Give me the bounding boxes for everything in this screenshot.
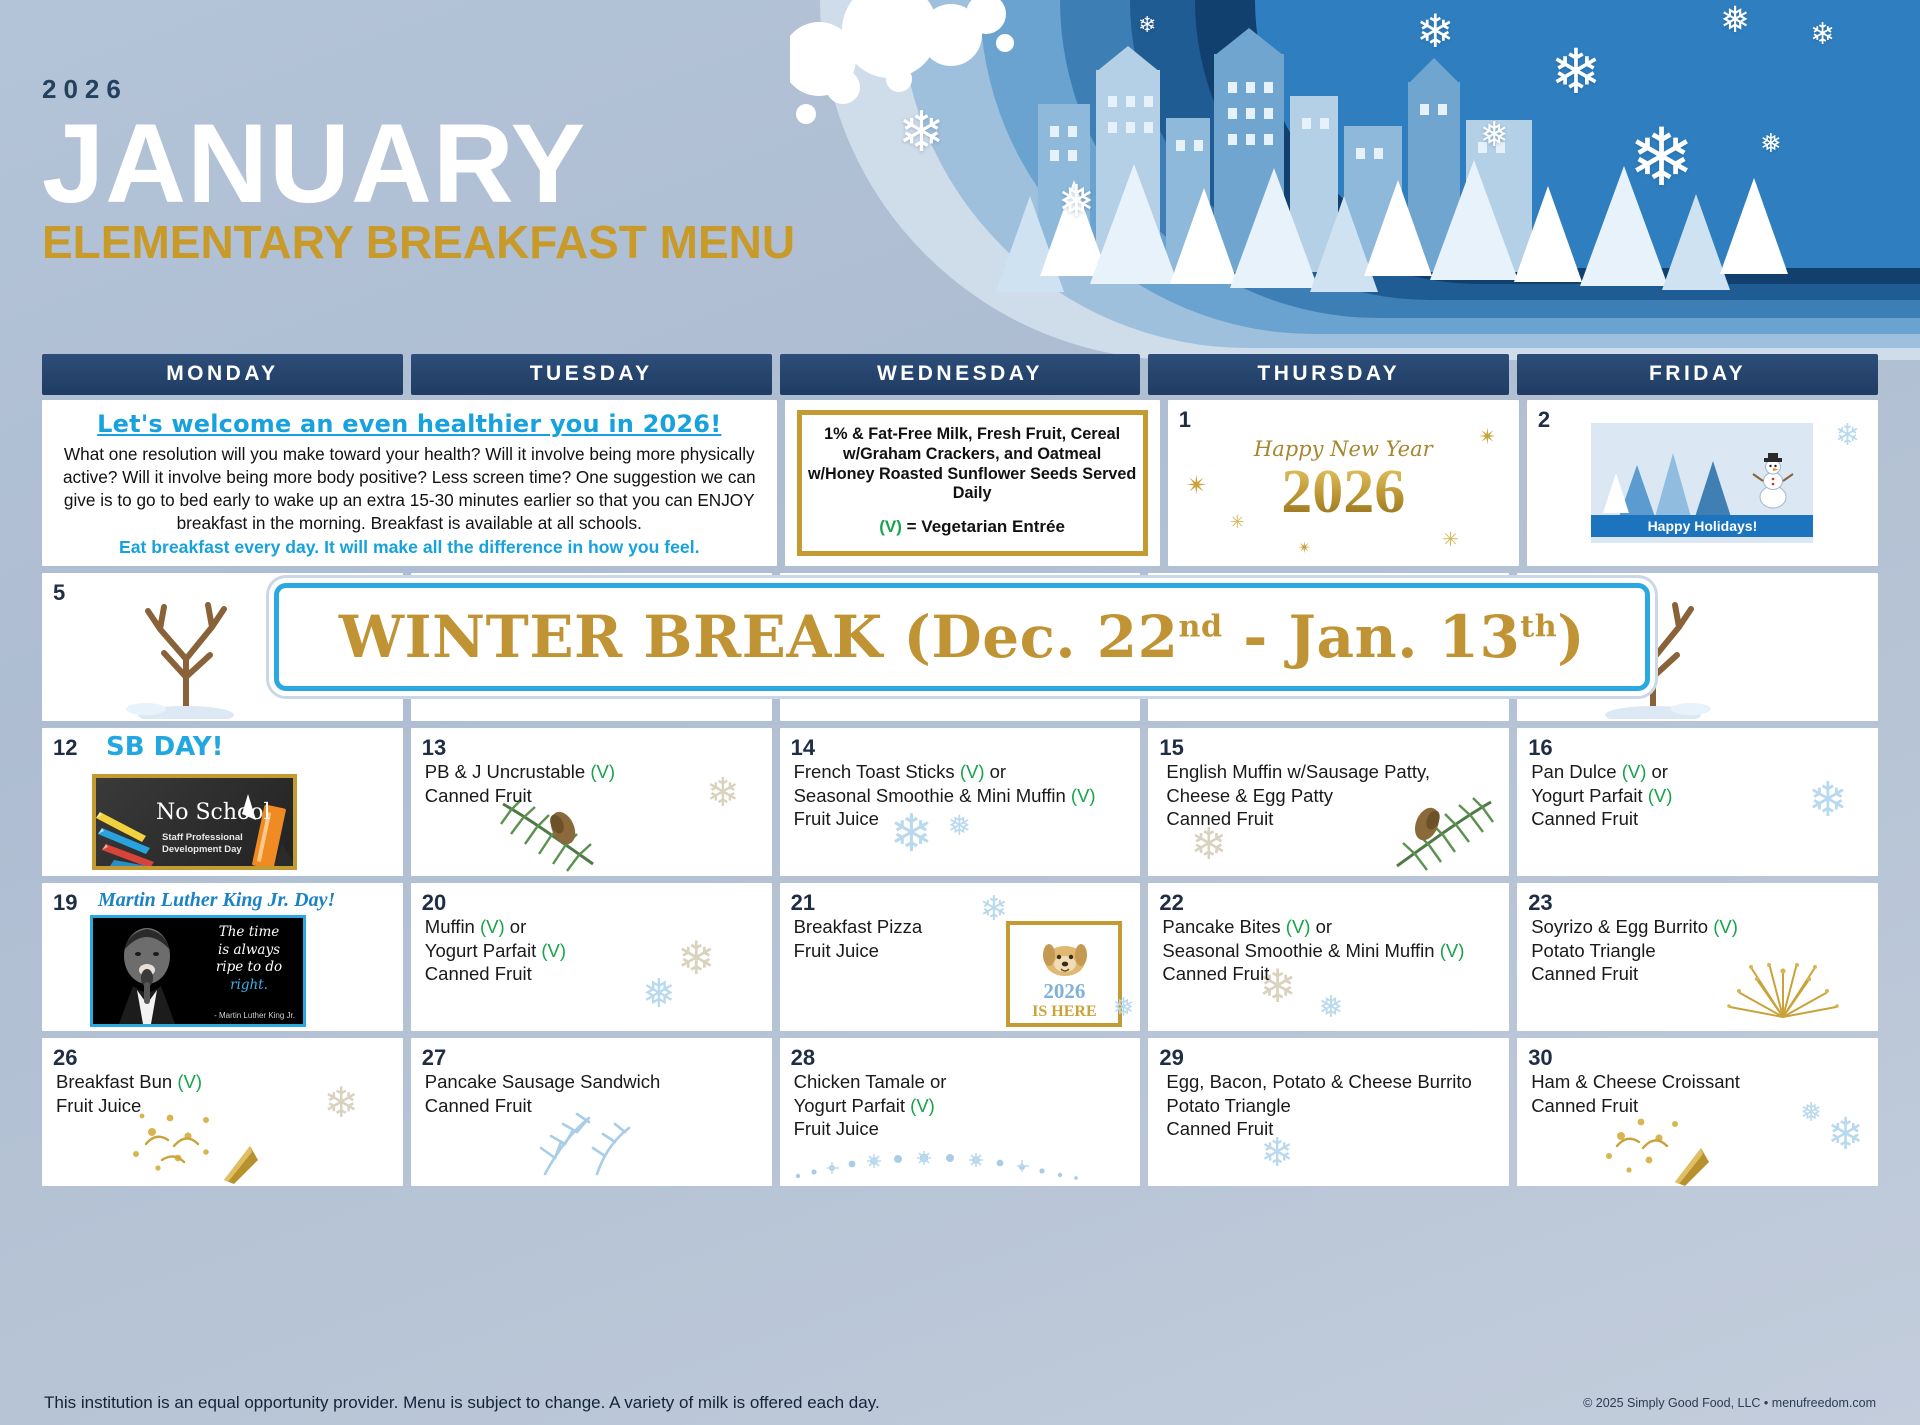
veg-marker: (V) [1648, 785, 1673, 806]
weekday-monday: MONDAY [42, 354, 403, 395]
menu-items: English Muffin w/Sausage Patty, Cheese &… [1148, 728, 1509, 839]
menu-line: Seasonal Smoothie & Mini Muffin (V) [1162, 939, 1499, 963]
menu-items: Soyrizo & Egg Burrito (V) Potato Triangl… [1517, 883, 1878, 994]
menu-items: French Toast Sticks (V) or Seasonal Smoo… [780, 728, 1141, 839]
menu-subtitle: ELEMENTARY BREAKFAST MENU [42, 217, 795, 268]
intro-message-cell: Let's welcome an even healthier you in 2… [42, 400, 777, 566]
menu-line: Canned Fruit [1531, 1094, 1868, 1118]
menu-line: Canned Fruit [425, 962, 762, 986]
menu-line: Canned Fruit [1166, 1117, 1499, 1141]
snowflake-icon: ❅ [1720, 2, 1750, 38]
veg-marker: (V) [590, 761, 615, 782]
snowflake-icon: ❅ [1480, 118, 1509, 152]
vegetarian-key: (V) = Vegetarian Entrée [808, 517, 1137, 537]
menu-line: English Muffin w/Sausage Patty, [1166, 760, 1499, 784]
intro-headline: Let's welcome an even healthier you in 2… [56, 410, 763, 438]
menu-items: Pancake Bites (V) or Seasonal Smoothie &… [1148, 883, 1509, 994]
snowflake-icon: ❅ [1760, 130, 1782, 156]
mlk-quote: The time is always ripe to do right. [203, 924, 295, 994]
menu-line: Canned Fruit [1531, 962, 1868, 986]
month-title: JANUARY [42, 107, 795, 221]
menu-item-text: Pancake Bites [1162, 916, 1285, 937]
winter-break-sup-1: nd [1179, 610, 1223, 645]
weekday-wednesday: WEDNESDAY [780, 354, 1141, 395]
menu-line: Fruit Juice [794, 807, 1131, 831]
menu-item-text: PB & J Uncrustable [425, 761, 591, 782]
menu-items: Chicken Tamale or Yogurt Parfait (V) Fru… [780, 1038, 1141, 1149]
veg-marker: (V) [1713, 916, 1738, 937]
menu-line: Cheese & Egg Patty [1166, 784, 1499, 808]
page-header: ❄ ❅ ❄ ❄ ❅ ❄ ❅ ❄ ❅ ❄ 2026 JANUARY ELEMENT… [0, 0, 1920, 360]
menu-items: Pan Dulce (V) or Yogurt Parfait (V) Cann… [1517, 728, 1878, 839]
mlk-quote-line: The time [203, 924, 295, 942]
winter-break-end: ) [1557, 603, 1585, 671]
happy-new-year-art: Happy New Year 2026 [1193, 437, 1493, 523]
day-number: 2 [1538, 407, 1550, 433]
snowflake-icon: ❄ [898, 104, 945, 160]
menu-items: Egg, Bacon, Potato & Cheese Burrito Pota… [1148, 1038, 1509, 1149]
veg-marker: (V) [177, 1071, 202, 1092]
weekday-thursday: THURSDAY [1148, 354, 1509, 395]
menu-line: PB & J Uncrustable (V) [425, 760, 762, 784]
menu-item-suffix: or [985, 761, 1007, 782]
winter-break-main: WINTER BREAK (Dec. 22 [339, 603, 1179, 671]
calendar-week-2: 5 6 7 8 9 [42, 573, 1878, 721]
day-cell-15[interactable]: 15 English Muffin w/Sausage Patty, Chees… [1148, 728, 1509, 876]
2026-card-year: 2026 [1010, 979, 1118, 1004]
snowflake-icon: ❄ [1810, 20, 1835, 50]
menu-line: Muffin (V) or [425, 915, 762, 939]
happy-holidays-label: Happy Holidays! [1591, 515, 1813, 537]
menu-item-text: Pan Dulce [1531, 761, 1622, 782]
menu-line: Yogurt Parfait (V) [794, 1094, 1131, 1118]
veg-marker: (V) [910, 1095, 935, 1116]
daily-offerings-box: 1% & Fat-Free Milk, Fresh Fruit, Cereal … [797, 410, 1148, 556]
veg-marker: (V) [541, 940, 566, 961]
menu-item-suffix: or [1310, 916, 1332, 937]
menu-line: Fruit Juice [794, 1117, 1131, 1141]
snowman-icon [1751, 453, 1795, 509]
menu-line: Breakfast Bun (V) [56, 1070, 393, 1094]
weekday-friday: FRIDAY [1517, 354, 1878, 395]
day-number: 19 [53, 890, 77, 916]
menu-line: Breakfast Pizza [794, 915, 1131, 939]
veg-marker: (V) [960, 761, 985, 782]
day-cell-14[interactable]: 14 French Toast Sticks (V) or Seasonal S… [780, 728, 1141, 876]
day-cell-26[interactable]: 26 Breakfast Bun (V) Fruit Juice ❄ [42, 1038, 403, 1186]
menu-item-text: Seasonal Smoothie & Mini Muffin [794, 785, 1071, 806]
no-school-card: No School Staff Professional Development… [92, 774, 297, 870]
happy-holidays-card: Happy Holidays! [1591, 423, 1813, 543]
menu-line: Egg, Bacon, Potato & Cheese Burrito [1166, 1070, 1499, 1094]
day-cell-12[interactable]: 12 SB DAY! [42, 728, 403, 876]
weekday-header-row: MONDAY TUESDAY WEDNESDAY THURSDAY FRIDAY [0, 354, 1920, 395]
menu-line: Fruit Juice [56, 1094, 393, 1118]
weekday-tuesday: TUESDAY [411, 354, 772, 395]
page-footer: This institution is an equal opportunity… [0, 1381, 1920, 1425]
winter-hero-artwork: ❄ ❅ ❄ ❄ ❅ ❄ ❅ ❄ ❅ ❄ [790, 0, 1920, 360]
menu-item-text: Breakfast Bun [56, 1071, 177, 1092]
snowflake-icon: ❅ [1058, 180, 1095, 224]
daily-offerings-cell: 1% & Fat-Free Milk, Fresh Fruit, Cereal … [785, 400, 1160, 566]
menu-line: Canned Fruit [425, 1094, 762, 1118]
bare-tree-icon [112, 589, 262, 719]
mlk-quote-line: right. [203, 977, 295, 995]
day-cell-13[interactable]: 13 PB & J Uncrustable (V) Canned Fruit ❄ [411, 728, 772, 876]
day-number: 5 [53, 580, 65, 606]
no-school-title: No School [156, 800, 271, 825]
new-year-number: 2026 [1193, 461, 1493, 523]
menu-line: Potato Triangle [1166, 1094, 1499, 1118]
day-cell-28[interactable]: 28 Chicken Tamale or Yogurt Parfait (V) … [780, 1038, 1141, 1186]
calendar-grid: Let's welcome an even healthier you in 2… [0, 395, 1920, 1186]
menu-item-text: Soyrizo & Egg Burrito [1531, 916, 1713, 937]
winter-break-text: WINTER BREAK (Dec. 22nd - Jan. 13th) [339, 603, 1585, 671]
day-cell-2[interactable]: 2 [1527, 400, 1878, 566]
snowflake-border-icon [790, 1150, 1090, 1184]
menu-item-suffix: or [1646, 761, 1668, 782]
footer-disclaimer: This institution is an equal opportunity… [44, 1393, 880, 1413]
veg-marker: (V) [1286, 916, 1311, 937]
day-cell-20[interactable]: 20 Muffin (V) or Yogurt Parfait (V) Cann… [411, 883, 772, 1031]
menu-item-text: Yogurt Parfait [1531, 785, 1648, 806]
menu-items: PB & J Uncrustable (V) Canned Fruit [411, 728, 772, 815]
day-cell-16[interactable]: 16 Pan Dulce (V) or Yogurt Parfait (V) C… [1517, 728, 1878, 876]
snowflake-icon: ❄ [1628, 118, 1695, 198]
vegetarian-symbol: (V) [879, 517, 902, 536]
calendar-week-5: 26 Breakfast Bun (V) Fruit Juice ❄ [42, 1038, 1878, 1186]
menu-line: Fruit Juice [794, 939, 1131, 963]
menu-item-text: French Toast Sticks [794, 761, 960, 782]
menu-items: Breakfast Bun (V) Fruit Juice [42, 1038, 403, 1125]
winter-break-banner: WINTER BREAK (Dec. 22nd - Jan. 13th) [274, 583, 1650, 691]
menu-items: Pancake Sausage Sandwich Canned Fruit [411, 1038, 772, 1125]
no-school-subtitle: Staff Professional Development Day [162, 832, 293, 856]
calendar-week-3: 12 SB DAY! [42, 728, 1878, 876]
menu-items: Muffin (V) or Yogurt Parfait (V) Canned … [411, 883, 772, 994]
snowflake-icon: ❄ [1138, 14, 1156, 36]
menu-item-text: Yogurt Parfait [794, 1095, 911, 1116]
day-cell-27[interactable]: 27 Pancake Sausage Sandwich Canned Fruit [411, 1038, 772, 1186]
menu-line: Yogurt Parfait (V) [1531, 784, 1868, 808]
intro-body: What one resolution will you make toward… [56, 443, 763, 535]
day-cell-21[interactable]: 21 Breakfast Pizza Fruit Juice 2026 IS H… [780, 883, 1141, 1031]
day-number: 1 [1179, 407, 1191, 433]
menu-line: Seasonal Smoothie & Mini Muffin (V) [794, 784, 1131, 808]
sb-day-badge: SB DAY! [106, 732, 224, 762]
menu-line: Chicken Tamale or [794, 1070, 1131, 1094]
menu-line: French Toast Sticks (V) or [794, 760, 1131, 784]
mlk-portrait-card: The time is always ripe to do right. - M… [90, 915, 306, 1027]
snowflake-icon: ❄ [1416, 8, 1455, 54]
mlk-attribution: - Martin Luther King Jr. [214, 1011, 295, 1020]
menu-line: Pan Dulce (V) or [1531, 760, 1868, 784]
menu-item-suffix: or [505, 916, 527, 937]
menu-line: Canned Fruit [1166, 807, 1499, 831]
menu-items: Ham & Cheese Croissant Canned Fruit [1517, 1038, 1878, 1125]
daily-offerings-text: 1% & Fat-Free Milk, Fresh Fruit, Cereal … [808, 425, 1137, 504]
menu-line: Yogurt Parfait (V) [425, 939, 762, 963]
day-cell-1[interactable]: 1 Happy New Year 2026 ✴ ✳ ✴ ✳ ✴ [1168, 400, 1519, 566]
menu-line: Canned Fruit [1531, 807, 1868, 831]
mlk-portrait-icon [103, 920, 189, 1024]
snowflake-icon: ❄ [1550, 42, 1602, 104]
menu-item-text: Yogurt Parfait [425, 940, 542, 961]
menu-line: Soyrizo & Egg Burrito (V) [1531, 915, 1868, 939]
menu-line: Canned Fruit [425, 784, 762, 808]
veg-marker: (V) [1622, 761, 1647, 782]
2026-card-label: IS HERE [1010, 1003, 1118, 1021]
veg-marker: (V) [1071, 785, 1096, 806]
veg-marker: (V) [480, 916, 505, 937]
menu-item-text: Seasonal Smoothie & Mini Muffin [1162, 940, 1439, 961]
day-cell-29[interactable]: 29 Egg, Bacon, Potato & Cheese Burrito P… [1148, 1038, 1509, 1186]
menu-line: Pancake Bites (V) or [1162, 915, 1499, 939]
mlk-quote-line: is always [203, 942, 295, 960]
menu-line: Pancake Sausage Sandwich [425, 1070, 762, 1094]
day-cell-23[interactable]: 23 Soyrizo & Egg Burrito (V) Potato Tria… [1517, 883, 1878, 1031]
menu-items: Breakfast Pizza Fruit Juice [780, 883, 1141, 970]
day-number: 12 [53, 735, 77, 761]
intro-closing: Eat breakfast every day. It will make al… [56, 537, 763, 558]
menu-line: Canned Fruit [1162, 962, 1499, 986]
menu-item-text: Muffin [425, 916, 480, 937]
veg-marker: (V) [1440, 940, 1465, 961]
sparkle-icon: ✳ [1442, 527, 1459, 552]
mlk-quote-line: ripe to do [203, 959, 295, 977]
snowflake-icon: ❄ [1835, 418, 1860, 453]
sparkle-icon: ✴ [1298, 538, 1311, 558]
calendar-week-1: Let's welcome an even healthier you in 2… [42, 400, 1878, 566]
vegetarian-key-text: = Vegetarian Entrée [902, 517, 1065, 536]
menu-line: Potato Triangle [1531, 939, 1868, 963]
footer-copyright: © 2025 Simply Good Food, LLC • menufreed… [1583, 1396, 1876, 1410]
day-cell-22[interactable]: 22 Pancake Bites (V) or Seasonal Smoothi… [1148, 883, 1509, 1031]
day-cell-30[interactable]: 30 Ham & Cheese Croissant Canned Fruit [1517, 1038, 1878, 1186]
day-cell-19[interactable]: 19 Martin Luther King Jr. Day! The time … [42, 883, 403, 1031]
mlk-day-title: Martin Luther King Jr. Day! [98, 889, 335, 912]
menu-line: Ham & Cheese Croissant [1531, 1070, 1868, 1094]
winter-break-sup-2: th [1520, 610, 1557, 645]
snowflake-icon: ❅ [1318, 990, 1343, 1025]
winter-break-mid: - Jan. 13 [1223, 603, 1521, 671]
calendar-week-4: 19 Martin Luther King Jr. Day! The time … [42, 883, 1878, 1031]
